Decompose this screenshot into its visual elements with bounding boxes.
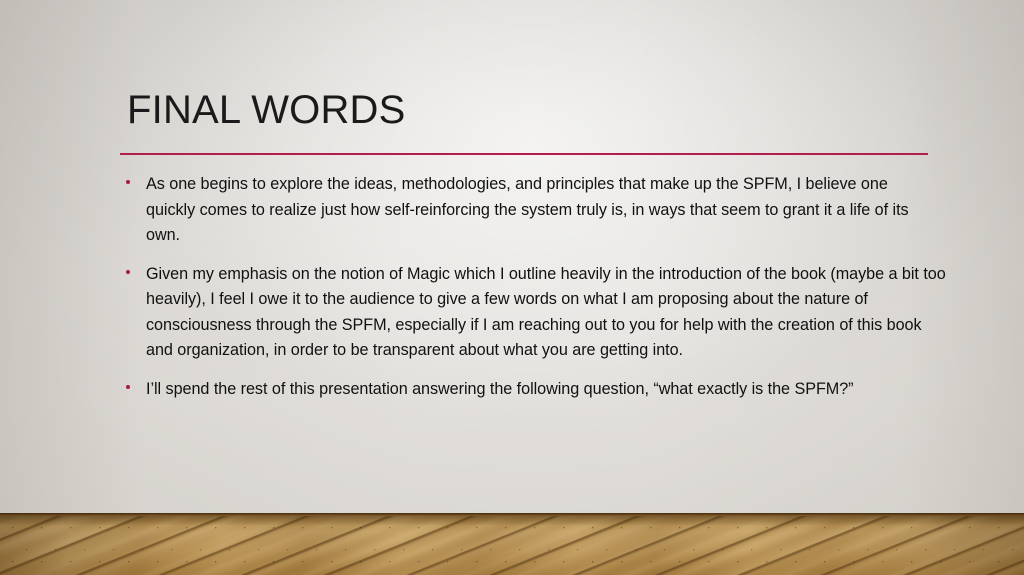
bullet-text: Given my emphasis on the notion of Magic… <box>146 262 946 364</box>
list-item: Given my emphasis on the notion of Magic… <box>120 262 930 364</box>
floor-vignette <box>0 513 1024 575</box>
page-title: FINAL WORDS <box>127 90 406 130</box>
wooden-floor-decoration <box>0 513 1024 575</box>
bullet-dot-icon <box>126 180 130 184</box>
bullet-text: I’ll spend the rest of this presentation… <box>146 377 891 403</box>
list-item: As one begins to explore the ideas, meth… <box>120 172 930 249</box>
bullet-dot-icon <box>126 385 130 389</box>
title-divider-rule <box>120 153 928 155</box>
slide-body-content: As one begins to explore the ideas, meth… <box>120 172 930 402</box>
presentation-slide: FINAL WORDS As one begins to explore the… <box>0 0 1024 575</box>
bullet-text: As one begins to explore the ideas, meth… <box>146 172 938 249</box>
list-item: I’ll spend the rest of this presentation… <box>120 377 930 403</box>
bullet-dot-icon <box>126 270 130 274</box>
